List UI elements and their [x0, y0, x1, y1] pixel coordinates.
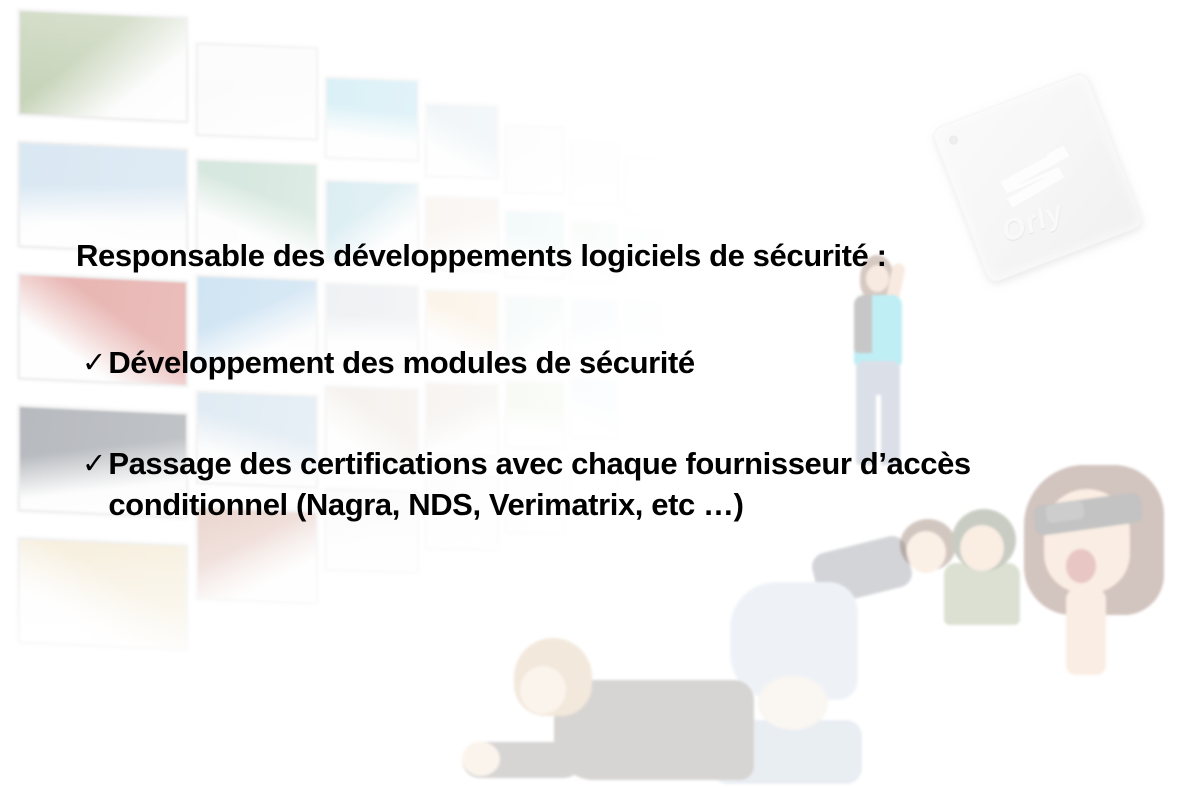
- hand-shape: [462, 742, 500, 776]
- video-wall-screen: [505, 125, 565, 194]
- video-wall-screen: [18, 537, 188, 650]
- checkmark-bullet-icon: ✓: [82, 443, 106, 484]
- person-lying-down-photo: [462, 520, 862, 785]
- bullet-item-1-text: Développement des modules de sécurité: [108, 342, 694, 383]
- child-face-shape: [960, 525, 1004, 571]
- video-wall-screen: [425, 103, 499, 179]
- video-wall-screen: [505, 380, 565, 449]
- video-wall-screen: [570, 376, 619, 439]
- feet-shape: [758, 676, 828, 730]
- standing-woman-photo: [832, 255, 922, 465]
- mouth-shape: [1066, 549, 1096, 583]
- video-wall-screen: [18, 9, 188, 122]
- child-face-shape: [906, 531, 946, 573]
- face-shape: [520, 666, 566, 714]
- st-chip-image: Orly: [931, 71, 1144, 284]
- bullet-item-2-text: Passage des certifications avec chaque f…: [108, 443, 1118, 525]
- slide-heading: Responsable des développements logiciels…: [76, 237, 887, 275]
- neck-shape: [1066, 589, 1106, 675]
- bullet-item-1: ✓ Développement des modules de sécurité: [82, 342, 695, 383]
- slide-canvas: Orly Responsable des développements logi…: [0, 0, 1177, 787]
- video-wall-screen: [570, 142, 619, 205]
- bullet-item-2: ✓ Passage des certifications avec chaque…: [82, 443, 1142, 525]
- jacket-shape: [854, 295, 872, 353]
- checkmark-bullet-icon: ✓: [82, 342, 106, 383]
- video-wall-screen: [325, 76, 419, 162]
- video-wall-screen: [624, 157, 664, 215]
- video-wall-screen: [196, 43, 318, 140]
